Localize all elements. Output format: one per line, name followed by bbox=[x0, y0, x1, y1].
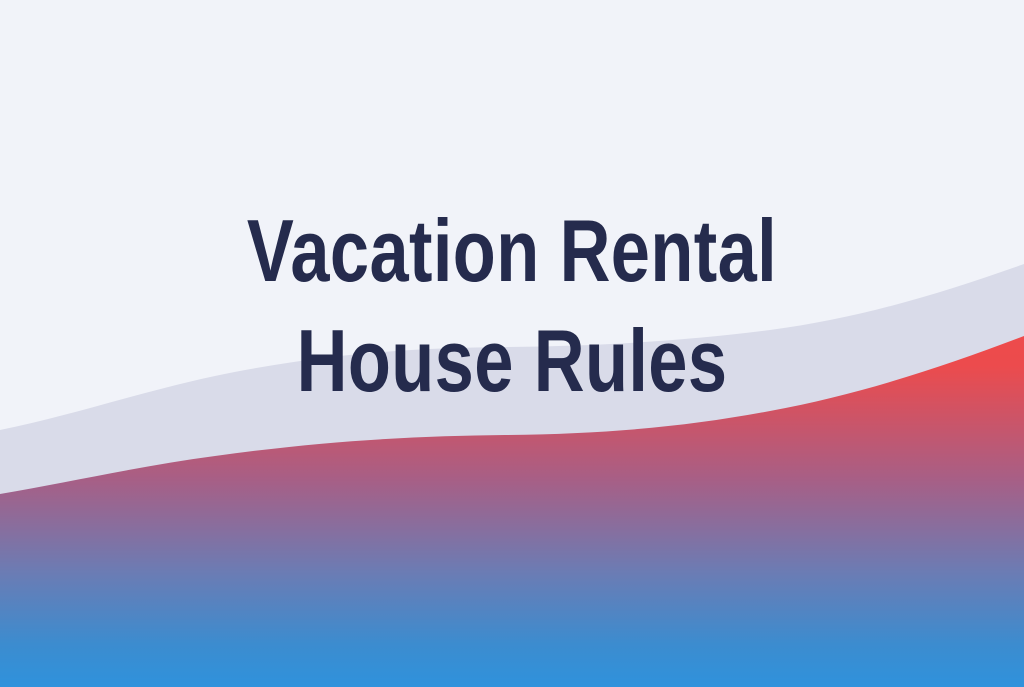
poster-canvas: Vacation Rental House Rules bbox=[0, 0, 1024, 687]
decorative-wave-layer bbox=[0, 0, 1024, 687]
